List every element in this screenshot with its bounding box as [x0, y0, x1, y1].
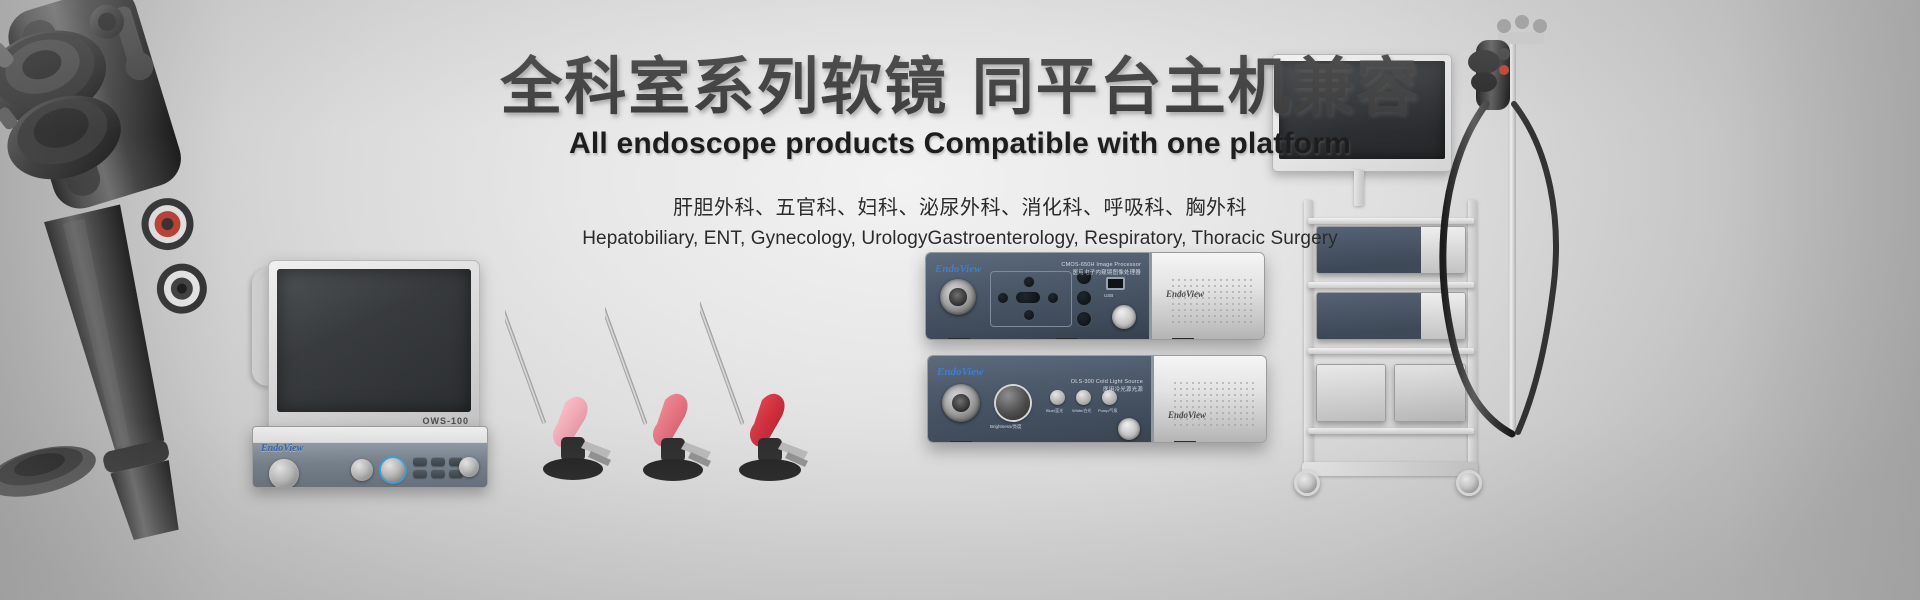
light-source-foot-left	[950, 441, 972, 443]
processor-enter-button[interactable]	[1076, 290, 1092, 306]
power-button[interactable]	[459, 457, 479, 477]
keypad-button-5[interactable]	[431, 469, 445, 478]
processor-power-button[interactable]	[1112, 305, 1136, 329]
headline-chinese: 全科室系列软镜 同平台主机兼容	[0, 52, 1920, 121]
processor-menu-button[interactable]	[1015, 291, 1041, 304]
camera-control-unit: EndoView	[252, 426, 488, 488]
light-source-unit: EndoView Brightness/亮度 Blue/蓝光 White/白光 …	[927, 355, 1267, 443]
cart-device-light-source-face	[1317, 293, 1421, 339]
cart-caster-left	[1294, 470, 1320, 496]
scope-port-main	[269, 459, 299, 488]
usb-label: USB	[1104, 293, 1113, 298]
scope-port-highlight	[381, 458, 405, 482]
light-source-brand-label: EndoView	[937, 366, 983, 378]
processor-down-button[interactable]	[1023, 309, 1035, 321]
specialties-chinese: 肝胆外科、五官科、妇科、泌尿外科、消化科、呼吸科、胸外科	[0, 191, 1920, 220]
processor-foot-mid	[1056, 338, 1078, 340]
processor-brand-label: EndoView	[935, 263, 981, 275]
processor-model-label: CMOS-650H Image Processor 医用电子内窥镜图像处理器	[1021, 261, 1141, 278]
keypad-button-4[interactable]	[413, 469, 427, 478]
processor-side-brand: EndoView	[1166, 289, 1204, 299]
light-source-foot-right	[1174, 441, 1196, 443]
specialties-english: Hepatobiliary, ENT, Gynecology, UrologyG…	[0, 228, 1920, 250]
processor-and-light-source-stack: EndoView USB CMOS-650H Image Processor	[925, 252, 1275, 452]
headline-english: All endoscope products Compatible with o…	[0, 127, 1920, 161]
brightness-knob-label: Brightness/亮度	[990, 424, 1022, 430]
blue-light-label: Blue/蓝光	[1046, 408, 1063, 414]
usb-port-icon	[1106, 277, 1125, 290]
processor-foot-right	[1172, 338, 1194, 340]
scope-port-secondary	[351, 459, 373, 481]
light-source-model-label: OLS-300 Cold Light Source 医用冷光源光源	[1025, 378, 1143, 395]
processor-left-button[interactable]	[997, 292, 1009, 304]
processor-up-button[interactable]	[1023, 276, 1035, 288]
light-guide-port	[942, 384, 980, 422]
processor-scope-port	[940, 279, 976, 315]
processor-keypad-frame	[990, 271, 1072, 327]
monitor-shell: OWS-100 医用内窥镜摄像系统	[268, 260, 480, 435]
pump-label: Pump/气泵	[1098, 408, 1118, 414]
processor-vent-grille	[1170, 277, 1252, 323]
cart-device-insufflator	[1316, 364, 1386, 422]
processor-side-panel: EndoView	[1152, 253, 1264, 339]
light-source-power-button[interactable]	[1118, 418, 1140, 440]
light-source-side-brand: EndoView	[1168, 410, 1206, 420]
ccu-brand-label: EndoView	[261, 443, 303, 454]
processor-right-button[interactable]	[1047, 292, 1059, 304]
monitor-screen	[277, 269, 471, 412]
light-source-side-panel: EndoView	[1154, 356, 1266, 442]
processor-foot-left	[948, 338, 970, 340]
white-light-label: White/白光	[1072, 408, 1091, 414]
banner-text-block: 全科室系列软镜 同平台主机兼容 All endoscope products C…	[0, 52, 1920, 250]
cart-device-insufflator-face	[1317, 365, 1385, 421]
laparoscope-red	[700, 248, 860, 498]
light-source-front-panel: EndoView Brightness/亮度 Blue/蓝光 White/白光 …	[928, 356, 1154, 442]
processor-front-panel: EndoView USB CMOS-650H Image Processor	[926, 253, 1152, 339]
endoscopy-product-banner: 全科室系列软镜 同平台主机兼容 All endoscope products C…	[0, 0, 1920, 600]
image-processor-unit: EndoView USB CMOS-650H Image Processor	[925, 252, 1265, 340]
monitor-and-camera-system: OWS-100 医用内窥镜摄像系统 EndoView	[232, 250, 492, 495]
processor-mode-button[interactable]	[1076, 311, 1092, 327]
keypad-button-1[interactable]	[413, 457, 427, 466]
keypad-button-2[interactable]	[431, 457, 445, 466]
